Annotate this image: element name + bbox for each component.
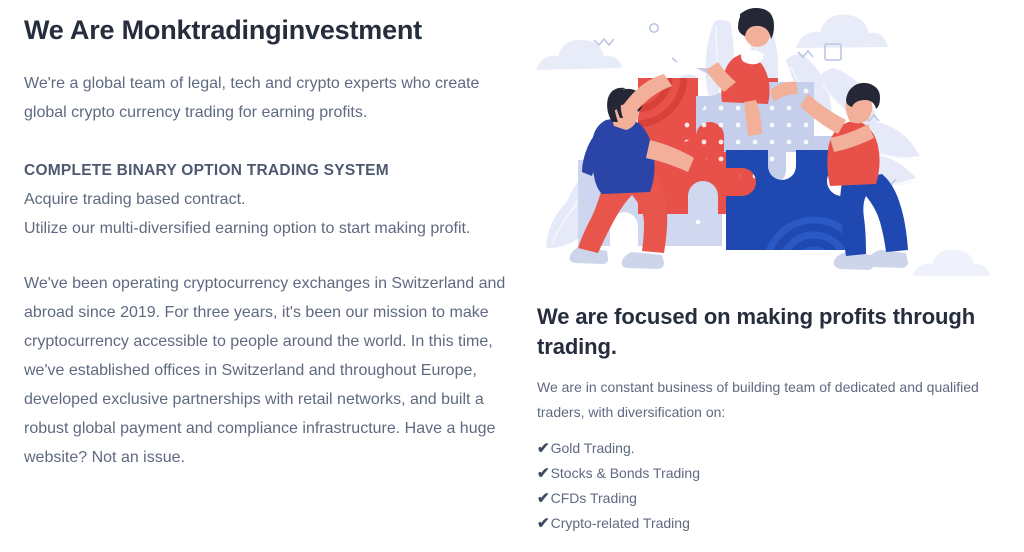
system-subheading: COMPLETE BINARY OPTION TRADING SYSTEM <box>24 156 510 185</box>
check-icon: ✔ <box>537 512 550 536</box>
list-item: ✔ Gold Trading. <box>537 436 1007 461</box>
intro-paragraph: We're a global team of legal, tech and c… <box>24 69 510 127</box>
right-content-column: We are focused on making profits through… <box>537 302 1007 536</box>
right-section-subtitle: We are in constant business of building … <box>537 375 1007 425</box>
company-story-paragraph: We've been operating cryptocurrency exch… <box>24 269 510 472</box>
list-item-label: Stocks & Bonds Trading <box>551 461 700 485</box>
list-item-label: Crypto-related Trading <box>551 511 690 535</box>
system-line-two: Utilize our multi-diversified earning op… <box>24 214 510 243</box>
check-icon: ✔ <box>537 437 550 461</box>
right-section-title: We are focused on making profits through… <box>537 302 1007 362</box>
about-section-page: We Are Monktradinginvestment We're a glo… <box>0 0 1024 552</box>
diversification-list: ✔ Gold Trading. ✔ Stocks & Bonds Trading… <box>537 436 1007 536</box>
list-item: ✔ CFDs Trading <box>537 486 1007 511</box>
check-icon: ✔ <box>537 462 550 486</box>
list-item-label: CFDs Trading <box>551 486 637 510</box>
left-content-column: We Are Monktradinginvestment We're a glo… <box>24 14 510 472</box>
list-item: ✔ Crypto-related Trading <box>537 511 1007 536</box>
teamwork-puzzle-illustration <box>528 0 1024 290</box>
list-item: ✔ Stocks & Bonds Trading <box>537 461 1007 486</box>
check-icon: ✔ <box>537 487 550 511</box>
system-line-one: Acquire trading based contract. <box>24 185 510 214</box>
page-title: We Are Monktradinginvestment <box>24 14 510 48</box>
list-item-label: Gold Trading. <box>551 436 635 460</box>
